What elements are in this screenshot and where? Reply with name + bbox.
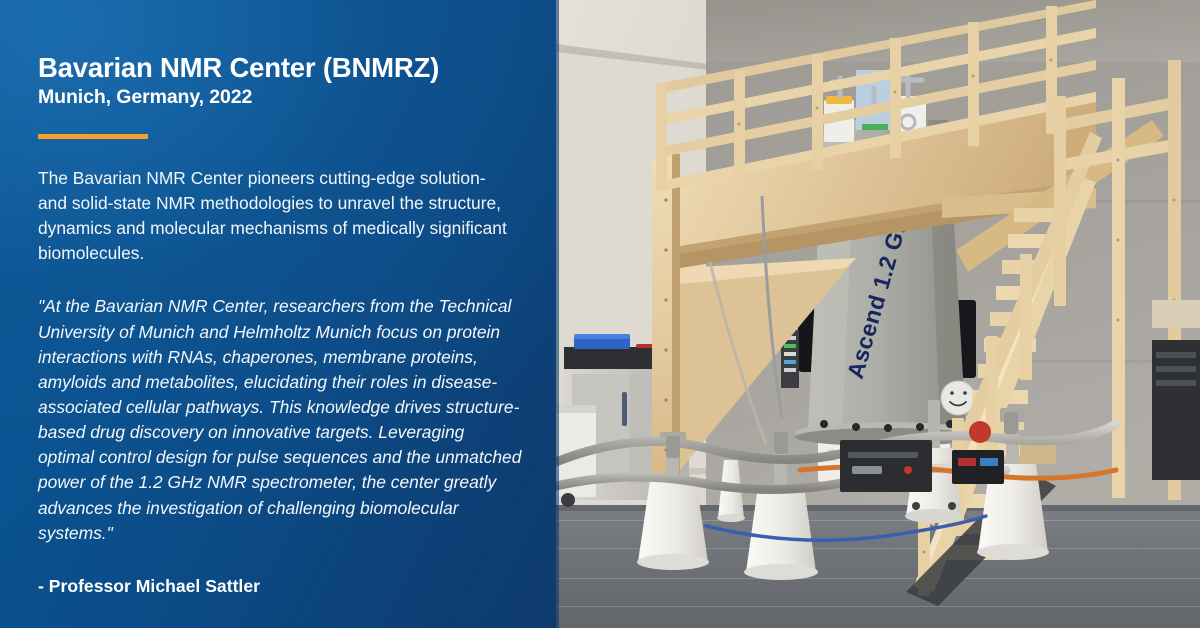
promo-poster: Bavarian NMR Center (BNMRZ) Munich, Germ… bbox=[0, 0, 1200, 628]
page-title: Bavarian NMR Center (BNMRZ) Munich, Germ… bbox=[38, 51, 538, 110]
quote-attribution: - Professor Michael Sattler bbox=[38, 576, 538, 597]
green-indicator bbox=[862, 124, 888, 130]
lab-photograph: NEO bbox=[556, 0, 1200, 628]
accent-divider bbox=[38, 134, 148, 139]
photo-left-edge bbox=[556, 0, 559, 628]
nmr-lab-scene: NEO bbox=[556, 0, 1200, 628]
stair-post-far-c bbox=[1054, 96, 1066, 306]
red-connector bbox=[969, 421, 991, 443]
title-line-primary: Bavarian NMR Center (BNMRZ) bbox=[38, 51, 538, 84]
heading-block: Bavarian NMR Center (BNMRZ) Munich, Germ… bbox=[38, 0, 538, 110]
title-line-location: Munich, Germany, 2022 bbox=[38, 86, 538, 110]
testimonial-quote: "At the Bavarian NMR Center, researchers… bbox=[38, 294, 524, 545]
stair-post-far-a bbox=[1112, 78, 1125, 498]
description-paragraph: The Bavarian NMR Center pioneers cutting… bbox=[38, 166, 508, 267]
info-panel: Bavarian NMR Center (BNMRZ) Munich, Germ… bbox=[0, 0, 556, 628]
right-equipment-rack bbox=[1152, 300, 1200, 480]
